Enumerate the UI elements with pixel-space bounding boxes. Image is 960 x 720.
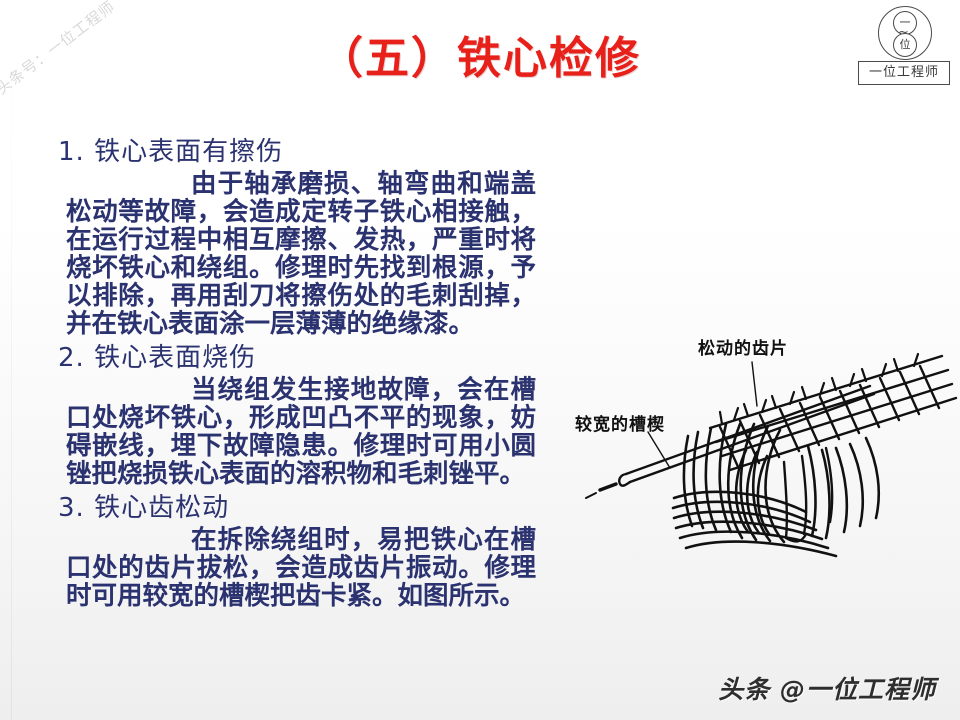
left-edge-seam bbox=[11, 0, 12, 720]
coil-windings bbox=[673, 424, 879, 556]
slide-title: （五）铁心检修 bbox=[0, 22, 960, 86]
footer-handle: 头条 @一位工程师 bbox=[718, 670, 936, 706]
stator-core-drawing bbox=[570, 320, 960, 560]
leader-line-loose-teeth bbox=[752, 362, 757, 406]
section-3-body: 在拆除绕组时，易把铁心在槽口处的齿片拔松，会造成齿片振动。修理时可用较宽的槽楔把… bbox=[66, 526, 536, 610]
section-2-body: 当绕组发生接地故障，会在槽口处烧坏铁心，形成凹凸不平的现象，妨碍嵌线，埋下故障隐… bbox=[66, 376, 536, 488]
logo-inner-circle-bottom: 位 bbox=[893, 33, 917, 57]
brand-logo: 一 ~ 位 一位工程师 bbox=[856, 4, 952, 86]
section-1-body: 由于轴承磨损、轴弯曲和端盖松动等故障，会造成定转子铁心相接触，在运行过程中相互摩… bbox=[66, 170, 536, 338]
content-column: 1. 铁心表面有擦伤 由于轴承磨损、轴弯曲和端盖松动等故障，会造成定转子铁心相接… bbox=[58, 134, 558, 612]
section-1: 1. 铁心表面有擦伤 由于轴承磨损、轴弯曲和端盖松动等故障，会造成定转子铁心相接… bbox=[58, 134, 558, 338]
logo-name-plate: 一位工程师 bbox=[858, 61, 950, 85]
stator-core-figure: 松动的齿片 较宽的槽楔 bbox=[570, 320, 960, 560]
section-3-heading: 3. 铁心齿松动 bbox=[58, 490, 558, 526]
section-1-heading: 1. 铁心表面有擦伤 bbox=[58, 134, 558, 170]
section-2: 2. 铁心表面烧伤 当绕组发生接地故障，会在槽口处烧坏铁心，形成凹凸不平的现象，… bbox=[58, 340, 558, 488]
slide-canvas: 头条号：一位工程师 （五）铁心检修 一 ~ 位 一位工程师 1. 铁心表面有擦伤… bbox=[0, 0, 960, 720]
section-3: 3. 铁心齿松动 在拆除绕组时，易把铁心在槽口处的齿片拔松，会造成齿片振动。修理… bbox=[58, 490, 558, 610]
section-2-heading: 2. 铁心表面烧伤 bbox=[58, 340, 558, 376]
